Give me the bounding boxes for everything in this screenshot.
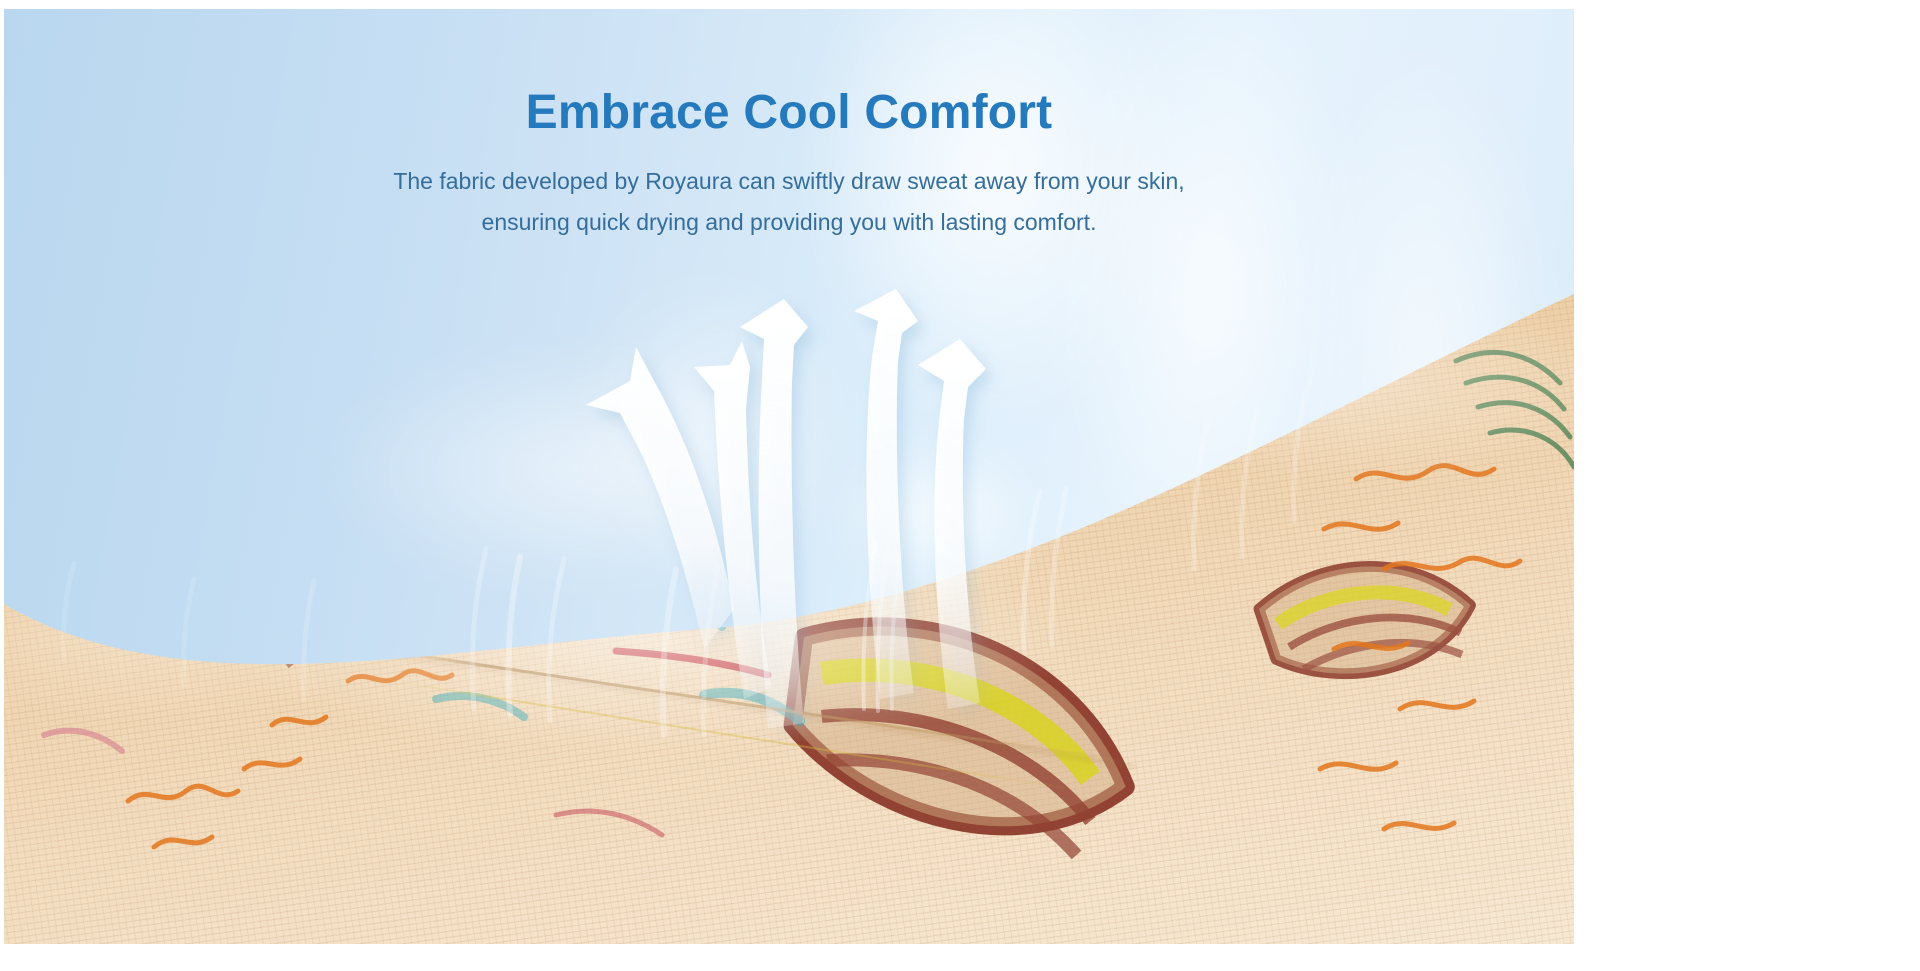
- cloud-wisp-icon: [304, 339, 864, 599]
- subtitle-line-2: ensuring quick drying and providing you …: [329, 202, 1249, 243]
- cloud-wisp-icon: [564, 259, 864, 589]
- promo-banner: Embrace Cool Comfort The fabric develope…: [4, 9, 1574, 944]
- banner-subtitle: The fabric developed by Royaura can swif…: [329, 161, 1249, 243]
- subtitle-line-1: The fabric developed by Royaura can swif…: [329, 161, 1249, 202]
- banner-copy: Embrace Cool Comfort The fabric develope…: [4, 87, 1574, 243]
- page-title: Embrace Cool Comfort: [4, 87, 1574, 139]
